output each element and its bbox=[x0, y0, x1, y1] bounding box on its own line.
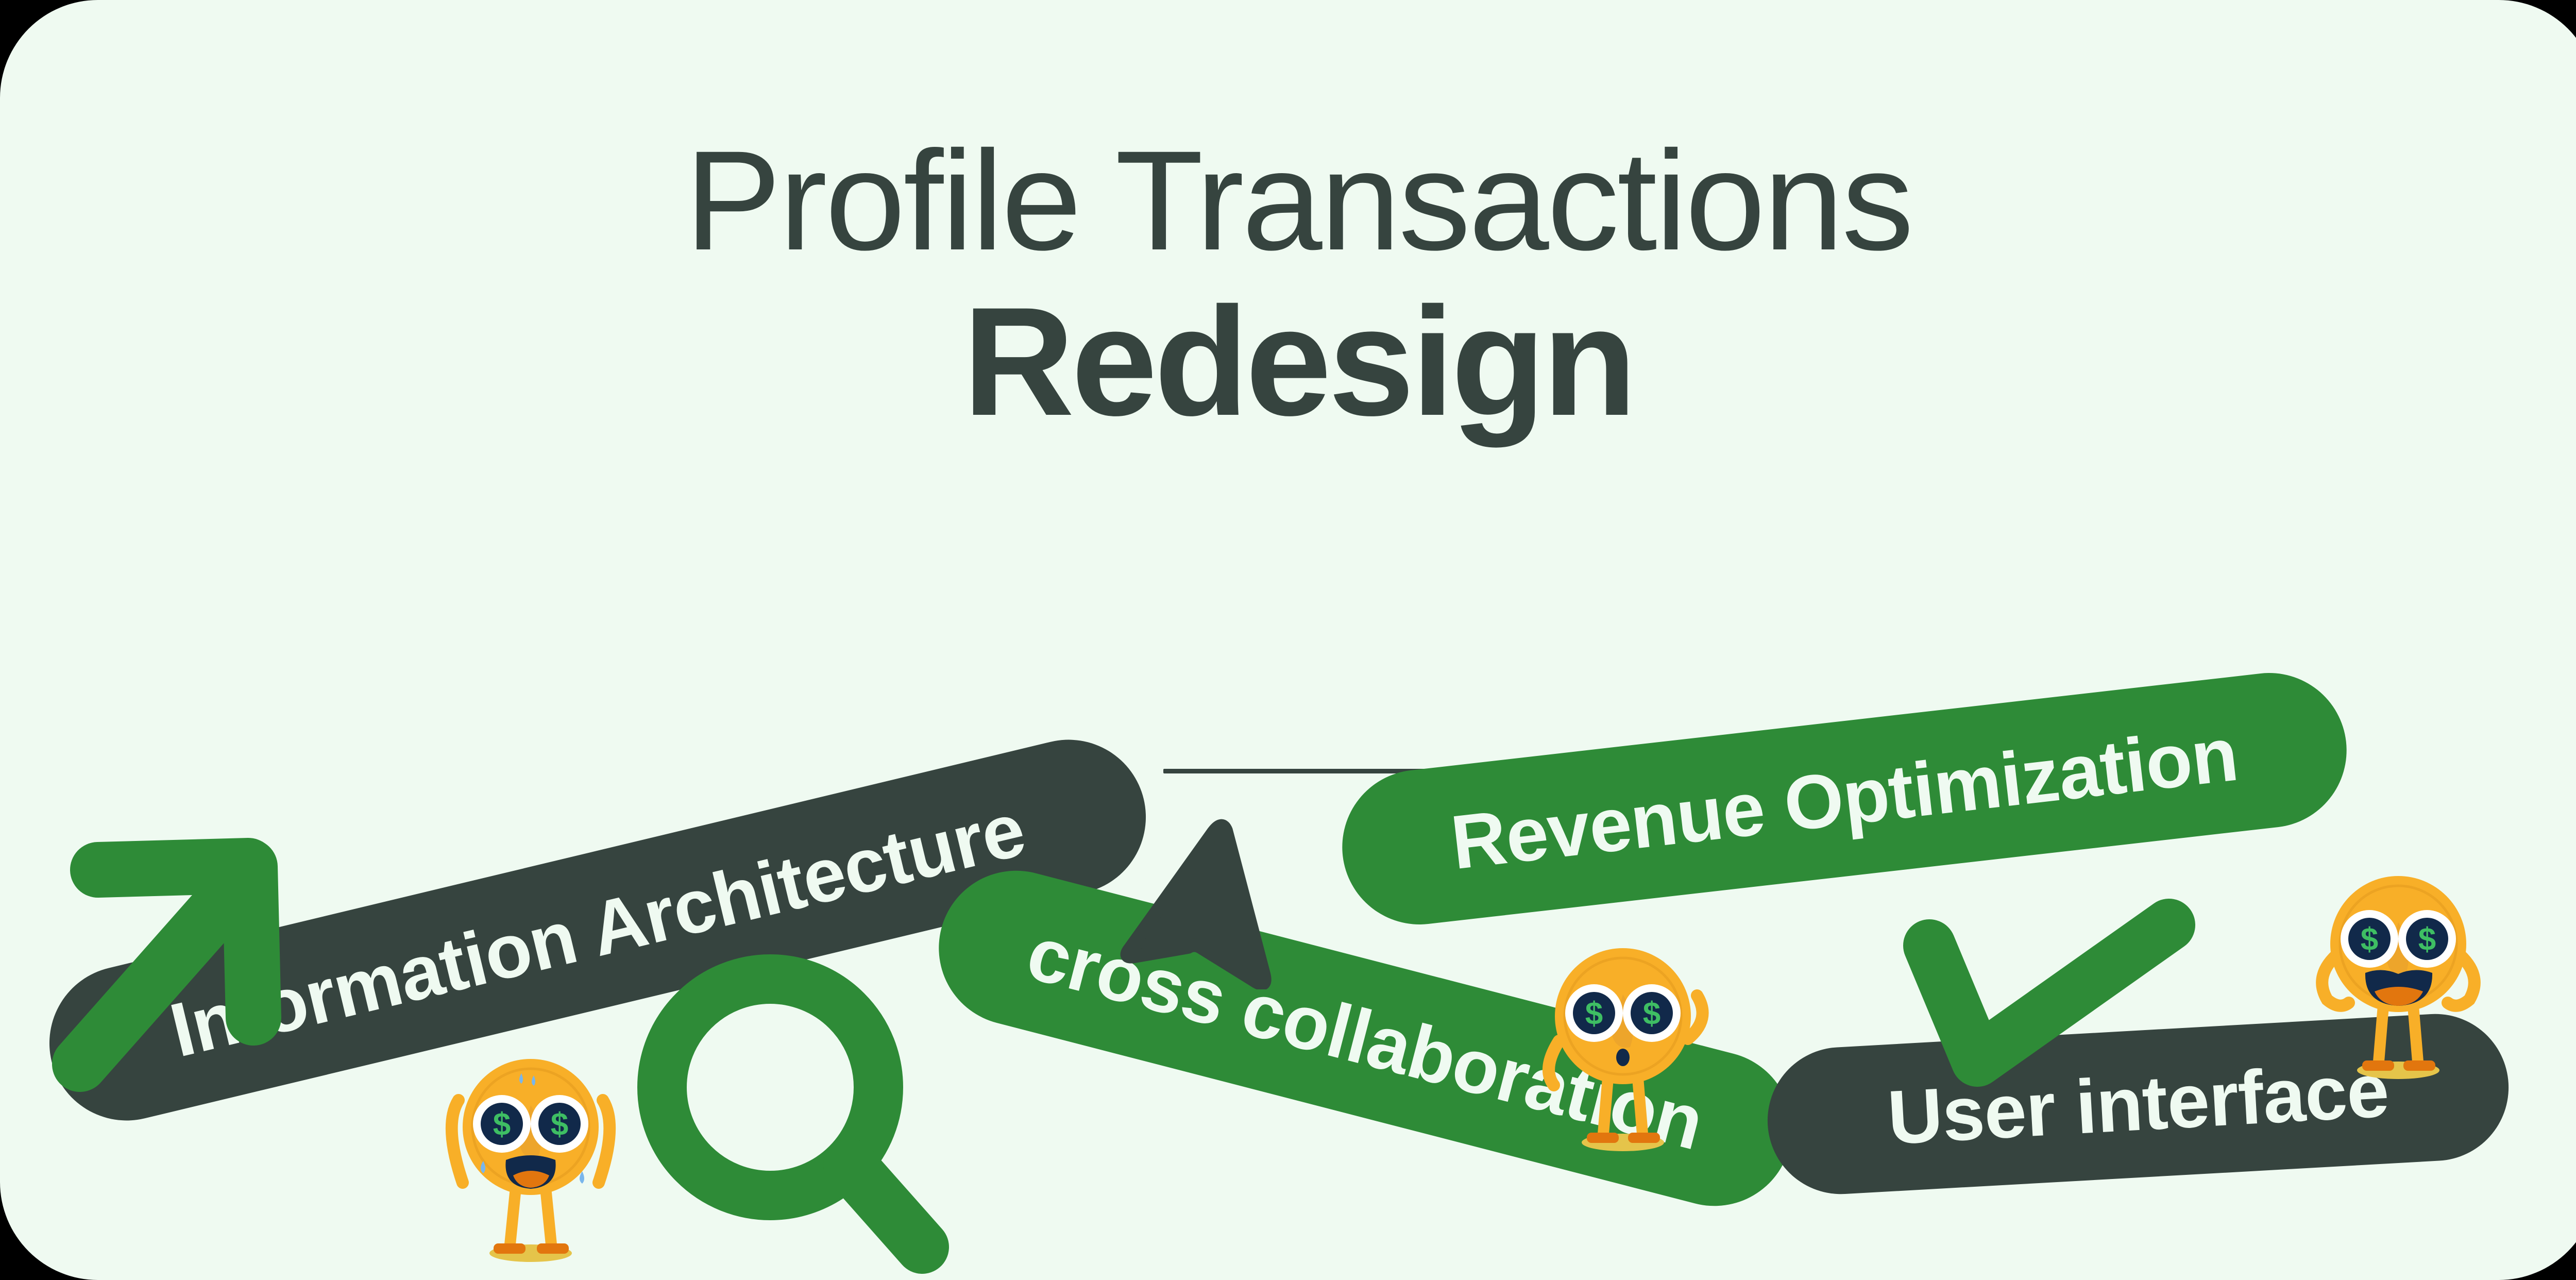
svg-text:$: $ bbox=[2418, 922, 2436, 957]
coin-character-surprised: $ $ bbox=[1520, 917, 1726, 1154]
arrow-up-right-icon bbox=[52, 824, 294, 1092]
title-line-2: Redesign bbox=[0, 284, 2576, 439]
search-icon bbox=[634, 943, 963, 1280]
svg-text:$: $ bbox=[1585, 996, 1603, 1032]
pill-label: Revenue Optimization bbox=[1447, 711, 2242, 887]
svg-text:$: $ bbox=[2361, 922, 2378, 957]
svg-text:$: $ bbox=[551, 1107, 568, 1142]
pill-revenue-optimization[interactable]: Revenue Optimization bbox=[1334, 665, 2354, 933]
svg-text:$: $ bbox=[493, 1107, 511, 1142]
title-line-1: Profile Transactions bbox=[0, 129, 2576, 274]
check-icon bbox=[1901, 897, 2200, 1123]
coin-character-happy: $ $ bbox=[2295, 845, 2501, 1082]
poster-canvas: Profile Transactions Redesign bbox=[0, 0, 2576, 1280]
page-title: Profile Transactions Redesign bbox=[0, 129, 2576, 439]
title-divider bbox=[1163, 769, 1435, 773]
cursor-arrow-icon bbox=[1108, 804, 1288, 989]
svg-text:$: $ bbox=[1643, 996, 1660, 1032]
coin-character-anxious: $ $ bbox=[428, 1028, 634, 1265]
